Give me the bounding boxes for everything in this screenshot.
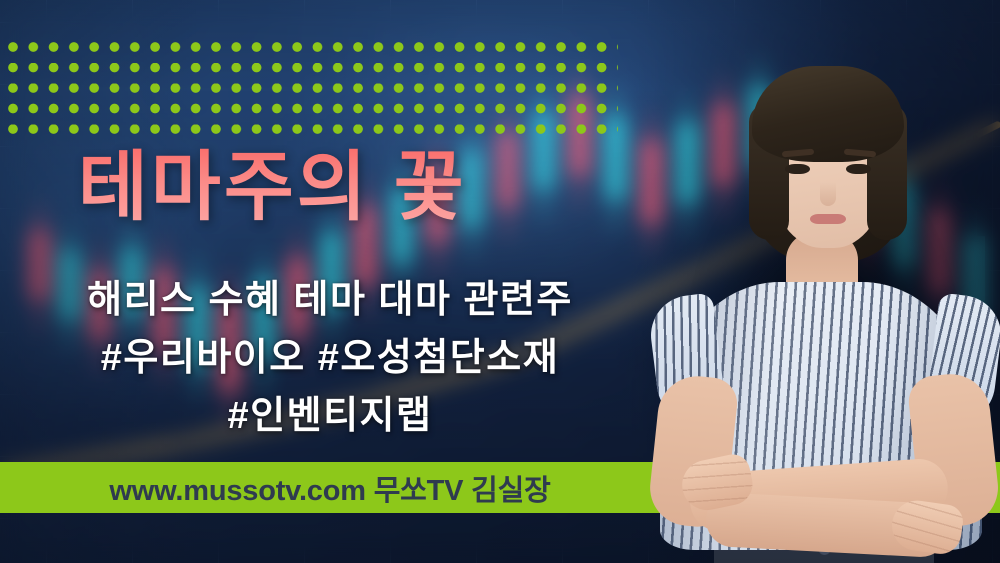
presenter-photo xyxy=(648,46,1000,563)
subtitle-line-2: #우리바이오 #오성첨단소재 xyxy=(0,330,660,388)
subtitle-line-1: 해리스 수혜 테마 대마 관련주 xyxy=(0,272,660,330)
youtube-thumbnail: 테마주의 꽃 해리스 수혜 테마 대마 관련주 #우리바이오 #오성첨단소재 #… xyxy=(0,0,1000,563)
subtitle-line-3: #인벤티지랩 xyxy=(0,388,660,446)
dot-grid-decoration xyxy=(8,42,618,134)
footer-branding: www.mussotv.com 무쏘TV 김실장 xyxy=(0,462,660,513)
page-title: 테마주의 꽃 xyxy=(78,148,618,229)
hair-fringe xyxy=(752,66,904,162)
eye-right xyxy=(846,164,871,174)
eye-left xyxy=(785,164,810,174)
nose xyxy=(820,182,836,206)
mouth xyxy=(810,214,846,224)
subtitle-block: 해리스 수혜 테마 대마 관련주 #우리바이오 #오성첨단소재 #인벤티지랩 xyxy=(0,272,660,445)
